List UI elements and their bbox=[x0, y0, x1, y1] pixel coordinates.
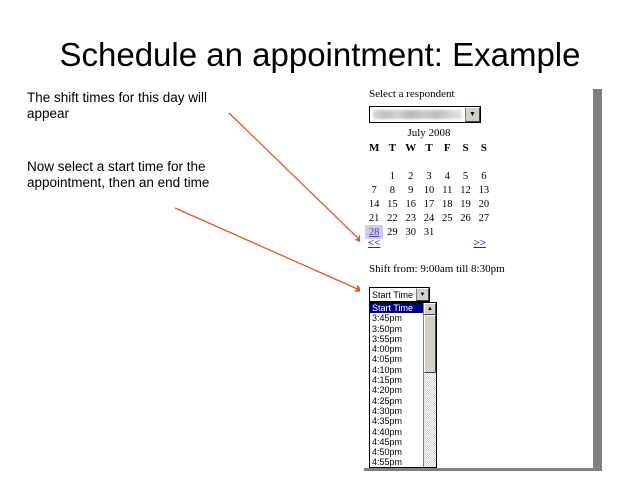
calendar-day-13[interactable]: 13 bbox=[475, 183, 493, 197]
calendar-nav: << >> bbox=[368, 237, 486, 249]
start-time-option[interactable]: 4:50pm bbox=[370, 447, 423, 457]
calendar-day-9[interactable]: 9 bbox=[402, 183, 420, 197]
calendar-day-18[interactable]: 18 bbox=[438, 197, 456, 211]
calendar-day-19[interactable]: 19 bbox=[456, 197, 474, 211]
calendar-weekday-4: F bbox=[438, 141, 456, 155]
calendar-day-link[interactable]: 22 bbox=[387, 213, 398, 224]
calendar-day-3[interactable]: 3 bbox=[420, 169, 438, 183]
embedded-screenshot: Select a respondent ▼ July 2008 MTWTFSS … bbox=[360, 85, 593, 468]
chevron-down-icon[interactable]: ▼ bbox=[465, 107, 480, 122]
calendar-day-11[interactable]: 11 bbox=[438, 183, 456, 197]
calendar-day-link[interactable]: 2 bbox=[408, 171, 413, 182]
calendar-day-link[interactable]: 11 bbox=[442, 185, 452, 196]
annotation-shift-times: The shift times for this day will appear bbox=[27, 90, 242, 122]
calendar-day-empty bbox=[420, 155, 438, 169]
calendar-day-2[interactable]: 2 bbox=[402, 169, 420, 183]
calendar-day-27[interactable]: 27 bbox=[475, 211, 493, 225]
calendar-month-caption: July 2008 bbox=[365, 127, 493, 141]
calendar-day-link[interactable]: 25 bbox=[442, 213, 453, 224]
calendar-weekday-2: W bbox=[402, 141, 420, 155]
scrollbar-thumb[interactable] bbox=[424, 315, 436, 373]
calendar-day-24[interactable]: 24 bbox=[420, 211, 438, 225]
shift-hours-text: Shift from: 9:00am till 8:30pm bbox=[369, 263, 505, 275]
start-time-combo[interactable]: Start Time ▼ bbox=[369, 287, 430, 302]
calendar-day-link[interactable]: 15 bbox=[387, 199, 398, 210]
start-time-option[interactable]: Start Time bbox=[370, 303, 423, 313]
calendar-day-link[interactable]: 23 bbox=[405, 213, 416, 224]
calendar-day-link[interactable]: 20 bbox=[479, 199, 490, 210]
calendar-day-link[interactable]: 17 bbox=[424, 199, 435, 210]
calendar-day-6[interactable]: 6 bbox=[475, 169, 493, 183]
calendar-day-empty bbox=[383, 155, 401, 169]
start-time-option-container: Start Time3:45pm3:50pm3:55pm4:00pm4:05pm… bbox=[370, 303, 423, 467]
calendar-day-20[interactable]: 20 bbox=[475, 197, 493, 211]
calendar-day-empty bbox=[365, 169, 383, 183]
calendar-day-link[interactable]: 30 bbox=[405, 227, 416, 238]
calendar-day-empty bbox=[365, 155, 383, 169]
calendar-day-15[interactable]: 15 bbox=[383, 197, 401, 211]
calendar-day-22[interactable]: 22 bbox=[383, 211, 401, 225]
calendar-day-link[interactable]: 18 bbox=[442, 199, 453, 210]
calendar-day-link[interactable]: 24 bbox=[424, 213, 435, 224]
calendar-weekday-1: T bbox=[383, 141, 401, 155]
start-time-option[interactable]: 4:55pm bbox=[370, 457, 423, 467]
calendar-day-link[interactable]: 8 bbox=[390, 185, 395, 196]
annotation-select-start-time: Now select a start time for the appointm… bbox=[27, 159, 242, 191]
calendar-day-empty bbox=[475, 155, 493, 169]
calendar-week-row: 78910111213 bbox=[365, 183, 493, 197]
calendar-day-empty bbox=[456, 155, 474, 169]
calendar-week-row: 21222324252627 bbox=[365, 211, 493, 225]
screenshot-shadow-right bbox=[593, 89, 602, 471]
calendar-day-link[interactable]: 6 bbox=[481, 171, 486, 182]
calendar-day-1[interactable]: 1 bbox=[383, 169, 401, 183]
calendar-day-17[interactable]: 17 bbox=[420, 197, 438, 211]
calendar-day-link[interactable]: 5 bbox=[463, 171, 468, 182]
calendar-day-8[interactable]: 8 bbox=[383, 183, 401, 197]
calendar-week-row: 14151617181920 bbox=[365, 197, 493, 211]
start-time-combo-value: Start Time bbox=[370, 290, 416, 300]
calendar-day-link[interactable]: 12 bbox=[460, 185, 471, 196]
calendar-day-link[interactable]: 3 bbox=[426, 171, 431, 182]
calendar-next-month-link[interactable]: >> bbox=[473, 237, 486, 249]
calendar-day-link[interactable]: 13 bbox=[479, 185, 490, 196]
start-time-option[interactable]: 4:00pm bbox=[370, 344, 423, 354]
calendar-day-link[interactable]: 9 bbox=[408, 185, 413, 196]
start-time-option[interactable]: 4:30pm bbox=[370, 406, 423, 416]
calendar-day-link[interactable]: 7 bbox=[372, 185, 377, 196]
calendar-widget: July 2008 MTWTFSS 1234567891011121314151… bbox=[365, 127, 493, 239]
calendar-day-5[interactable]: 5 bbox=[456, 169, 474, 183]
calendar-day-21[interactable]: 21 bbox=[365, 211, 383, 225]
calendar-day-link[interactable]: 10 bbox=[424, 185, 435, 196]
arrow-to-calendar bbox=[229, 113, 362, 242]
calendar-day-25[interactable]: 25 bbox=[438, 211, 456, 225]
calendar-table: MTWTFSS 12345678910111213141516171819202… bbox=[365, 141, 493, 239]
calendar-day-link[interactable]: 21 bbox=[369, 213, 380, 224]
calendar-weekday-3: T bbox=[420, 141, 438, 155]
calendar-body: 1234567891011121314151617181920212223242… bbox=[365, 155, 493, 239]
calendar-day-empty bbox=[438, 155, 456, 169]
calendar-day-link[interactable]: 27 bbox=[479, 213, 490, 224]
page-title: Schedule an appointment: Example bbox=[0, 36, 640, 74]
calendar-weekday-row: MTWTFSS bbox=[365, 141, 493, 155]
calendar-day-23[interactable]: 23 bbox=[402, 211, 420, 225]
start-time-option[interactable]: 4:20pm bbox=[370, 385, 423, 395]
calendar-week-row bbox=[365, 155, 493, 169]
respondent-label: Select a respondent bbox=[369, 88, 455, 100]
calendar-day-link[interactable]: 14 bbox=[369, 199, 380, 210]
start-time-option[interactable]: 4:45pm bbox=[370, 437, 423, 447]
calendar-day-26[interactable]: 26 bbox=[456, 211, 474, 225]
respondent-selected-value-redacted bbox=[373, 110, 462, 119]
start-time-scrollbar[interactable]: ▲ bbox=[423, 303, 436, 467]
calendar-day-16[interactable]: 16 bbox=[402, 197, 420, 211]
calendar-day-link[interactable]: 31 bbox=[424, 227, 435, 238]
calendar-week-row: 123456 bbox=[365, 169, 493, 183]
respondent-select[interactable]: ▼ bbox=[369, 106, 481, 123]
calendar-day-link[interactable]: 16 bbox=[405, 199, 416, 210]
calendar-day-14[interactable]: 14 bbox=[365, 197, 383, 211]
calendar-day-link[interactable]: 19 bbox=[460, 199, 471, 210]
start-time-option[interactable]: 4:05pm bbox=[370, 354, 423, 364]
scrollbar-track[interactable] bbox=[424, 315, 436, 467]
calendar-prev-month-link[interactable]: << bbox=[368, 237, 381, 249]
calendar-day-4[interactable]: 4 bbox=[438, 169, 456, 183]
calendar-day-empty bbox=[402, 155, 420, 169]
calendar-weekday-0: M bbox=[365, 141, 383, 155]
calendar-day-link[interactable]: 1 bbox=[390, 171, 395, 182]
start-time-option[interactable]: 4:10pm bbox=[370, 365, 423, 375]
arrow-to-start-time bbox=[175, 208, 362, 291]
start-time-option[interactable]: 3:50pm bbox=[370, 324, 423, 334]
calendar-day-12[interactable]: 12 bbox=[456, 183, 474, 197]
calendar-day-link[interactable]: 4 bbox=[445, 171, 450, 182]
start-time-option[interactable]: 4:40pm bbox=[370, 427, 423, 437]
calendar-weekday-5: S bbox=[456, 141, 474, 155]
scroll-up-icon[interactable]: ▲ bbox=[424, 303, 436, 315]
start-time-dropdown-list[interactable]: Start Time3:45pm3:50pm3:55pm4:00pm4:05pm… bbox=[369, 302, 437, 468]
chevron-down-icon[interactable]: ▼ bbox=[416, 288, 429, 301]
start-time-option[interactable]: 4:15pm bbox=[370, 375, 423, 385]
start-time-option[interactable]: 4:35pm bbox=[370, 416, 423, 426]
start-time-option[interactable]: 3:55pm bbox=[370, 334, 423, 344]
calendar-day-10[interactable]: 10 bbox=[420, 183, 438, 197]
calendar-day-link[interactable]: 26 bbox=[460, 213, 471, 224]
start-time-option[interactable]: 4:25pm bbox=[370, 396, 423, 406]
calendar-day-link[interactable]: 29 bbox=[387, 227, 398, 238]
calendar-day-7[interactable]: 7 bbox=[365, 183, 383, 197]
start-time-option[interactable]: 3:45pm bbox=[370, 313, 423, 323]
calendar-day-link[interactable]: 28 bbox=[369, 227, 380, 238]
calendar-weekday-6: S bbox=[475, 141, 493, 155]
